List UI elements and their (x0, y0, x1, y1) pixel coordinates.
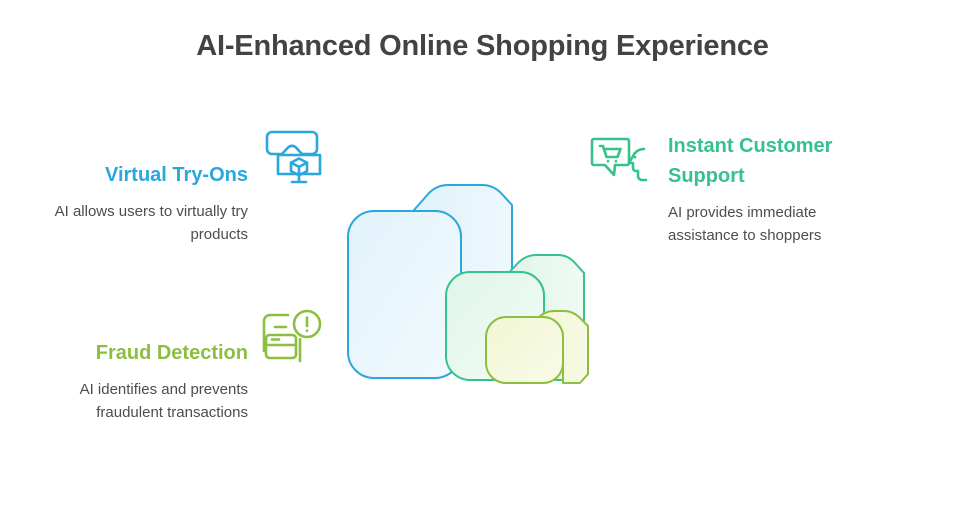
vr-headset-monitor-icon (256, 121, 328, 193)
slide-canvas: AI-Enhanced Online Shopping Experience (0, 0, 965, 515)
feature-description-virtual-try-ons: AI allows users to virtually try product… (28, 200, 248, 247)
page-title: AI-Enhanced Online Shopping Experience (0, 28, 965, 64)
feature-fraud-detection: Fraud Detection AI identifies and preven… (28, 338, 248, 425)
feature-instant-customer-support: Instant Customer Support AI provides imm… (668, 131, 883, 248)
chat-cart-face-icon (583, 127, 655, 199)
card-alert-icon (256, 303, 328, 375)
slab-inner-lime (486, 311, 588, 383)
feature-heading-virtual-try-ons: Virtual Try-Ons (28, 160, 248, 190)
feature-heading-fraud-detection: Fraud Detection (28, 338, 248, 368)
nested-3d-slabs-graphic (330, 168, 592, 420)
feature-description-fraud-detection: AI identifies and prevents fraudulent tr… (28, 378, 248, 425)
feature-virtual-try-ons: Virtual Try-Ons AI allows users to virtu… (28, 160, 248, 247)
feature-description-instant-customer-support: AI provides immediate assistance to shop… (668, 201, 883, 248)
feature-heading-instant-customer-support: Instant Customer Support (668, 131, 883, 191)
